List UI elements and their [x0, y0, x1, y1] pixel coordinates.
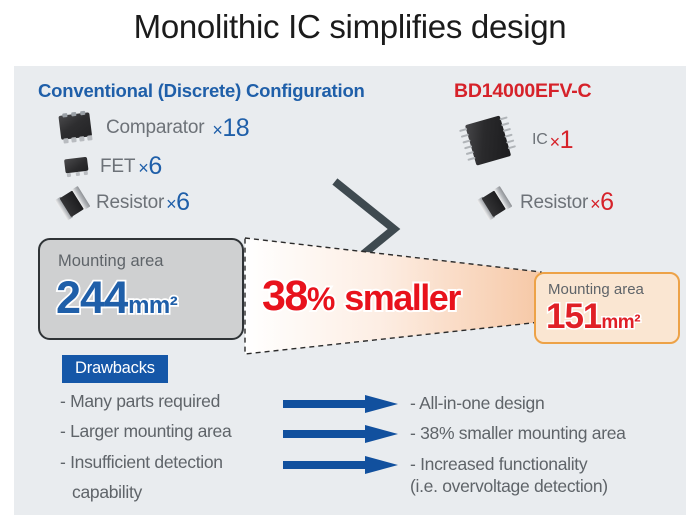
left-component-resistor: Resistor ×6	[58, 188, 190, 217]
arrow-right-icon	[283, 456, 398, 474]
left-component-comparator: Comparator ×18	[56, 112, 249, 144]
component-count: ×6	[166, 188, 189, 217]
drawback-row-2-right: - 38% smaller mounting area	[410, 421, 626, 445]
component-label: Resistor	[520, 192, 588, 214]
right-component-ic: IC ×1	[462, 116, 573, 164]
chip-resistor-icon	[475, 183, 515, 223]
drawback-row-2-left: - Larger mounting area	[60, 421, 231, 442]
chip-resistor-icon	[53, 183, 93, 223]
component-label: FET	[100, 156, 135, 178]
sop-chip-icon	[54, 110, 98, 147]
drawbacks-badge: Drawbacks	[62, 355, 168, 383]
drawback-row-3-left: - Insufficient detection	[60, 452, 223, 473]
left-column-heading: Conventional (Discrete) Configuration	[38, 80, 365, 102]
mounting-area-value: 151mm²	[546, 297, 640, 337]
left-component-fet: FET ×6	[62, 152, 162, 181]
slide-root: Monolithic IC simplifies design Conventi…	[0, 0, 700, 529]
component-count: ×6	[590, 188, 613, 217]
component-count: ×1	[550, 126, 573, 155]
right-component-resistor: Resistor ×6	[480, 188, 614, 217]
arrow-right-icon	[283, 425, 398, 443]
page-title: Monolithic IC simplifies design	[0, 8, 700, 46]
drawback-row-1-right: - All-in-one design	[410, 391, 544, 415]
drawback-row-1-left: - Many parts required	[60, 391, 220, 412]
component-label: Comparator	[106, 117, 204, 139]
arrow-right-icon	[283, 395, 398, 413]
mounting-area-box-ic: Mounting area 151mm²	[534, 272, 680, 344]
component-count: ×18	[212, 114, 249, 143]
right-column-heading: BD14000EFV-C	[454, 80, 591, 103]
mounting-area-value: 244mm²	[56, 272, 177, 324]
mounting-area-box-conventional: Mounting area 244mm²	[38, 238, 244, 340]
mounting-area-caption: Mounting area	[58, 252, 164, 271]
drawback-row-3-left-cont: capability	[72, 482, 142, 503]
fet-chip-icon	[61, 154, 93, 179]
drawback-row-3-right: - Increased functionality	[410, 452, 587, 476]
mounting-area-caption: Mounting area	[548, 281, 644, 298]
component-label: IC	[532, 131, 548, 149]
component-label: Resistor	[96, 192, 164, 214]
reduction-callout: 38% smaller	[262, 272, 460, 321]
drawback-row-3-right-cont: (i.e. overvoltage detection)	[410, 474, 608, 498]
component-count: ×6	[138, 152, 161, 181]
ssop-ic-icon	[456, 109, 523, 171]
